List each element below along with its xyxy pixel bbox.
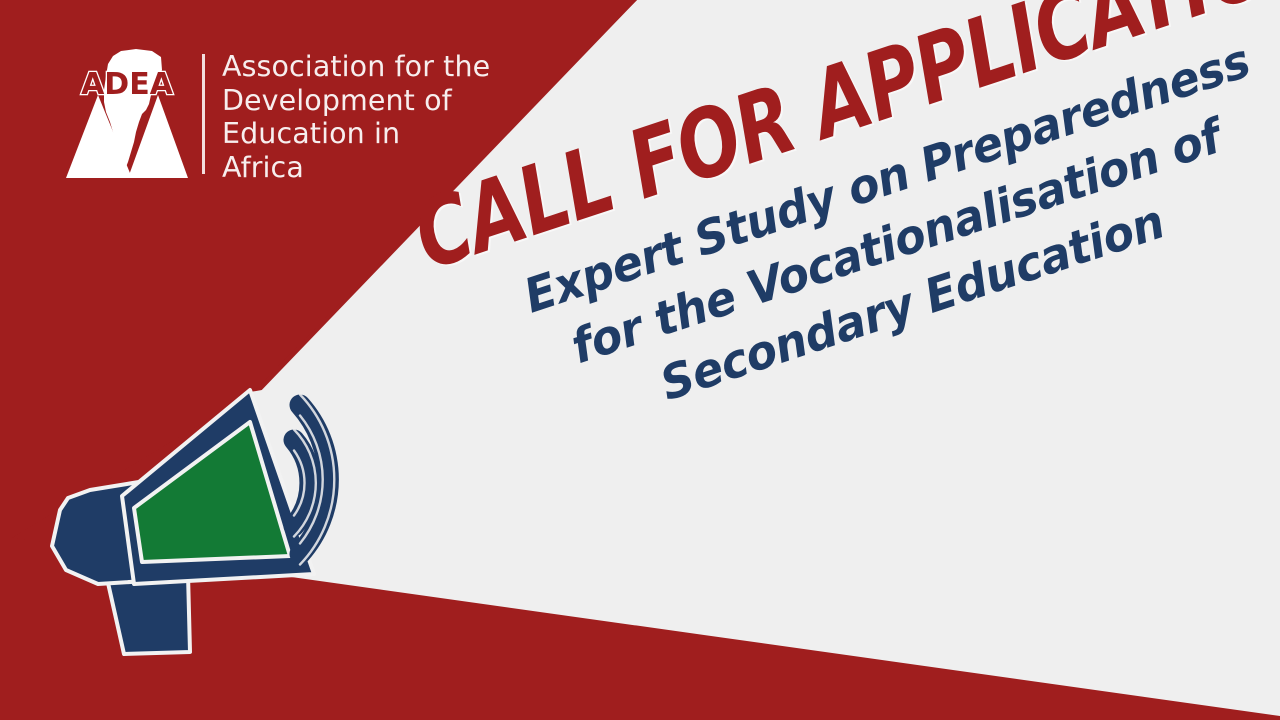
logo-line-2: Development of [222, 84, 490, 118]
adea-logo-mark-icon: ADEA [66, 46, 188, 178]
logo-line-1: Association for the [222, 50, 490, 84]
poster-canvas: ADEA Association for the Development of … [0, 0, 1280, 720]
megaphone-icon [38, 378, 438, 670]
adea-acronym-text: ADEA [81, 67, 174, 102]
logo-divider [202, 54, 205, 174]
logo-wordmark: Association for the Development of Educa… [222, 46, 490, 184]
logo-line-3: Education in [222, 117, 490, 151]
adea-logo: ADEA Association for the Development of … [66, 46, 490, 184]
